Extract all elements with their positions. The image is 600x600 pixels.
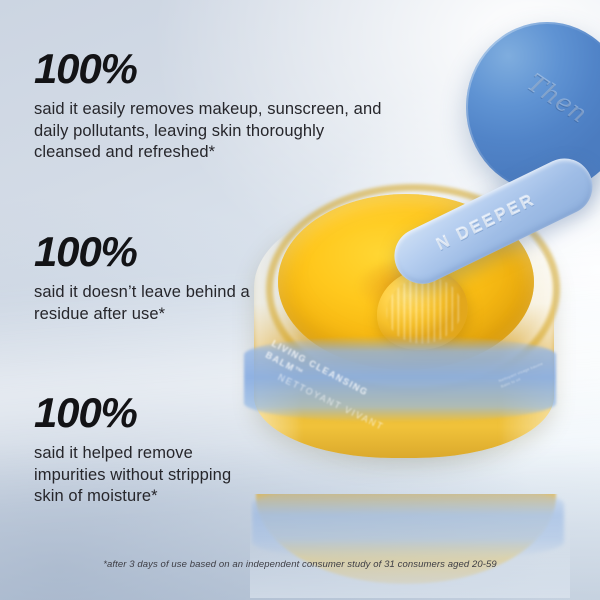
claim-description-3: said it helped remove impurities without… (34, 443, 249, 508)
jar-reflection-fade (250, 494, 570, 598)
claim-block-3: 100% said it helped remove impurities wi… (34, 392, 249, 508)
claim-description-1: said it easily removes makeup, sunscreen… (34, 99, 384, 164)
marketing-image: Then Living Cleansing Balm™ Nettoyant Vi… (0, 0, 600, 600)
claim-stat-3: 100% (34, 392, 249, 434)
study-footnote: *after 3 days of use based on an indepen… (0, 559, 600, 570)
claim-block-1: 100% said it easily removes makeup, suns… (34, 48, 384, 164)
claim-description-2: said it doesn’t leave behind a residue a… (34, 282, 284, 325)
claim-stat-2: 100% (34, 231, 284, 273)
claim-stat-1: 100% (34, 48, 384, 90)
jar-reflection (250, 494, 570, 598)
claim-block-2: 100% said it doesn’t leave behind a resi… (34, 231, 284, 325)
